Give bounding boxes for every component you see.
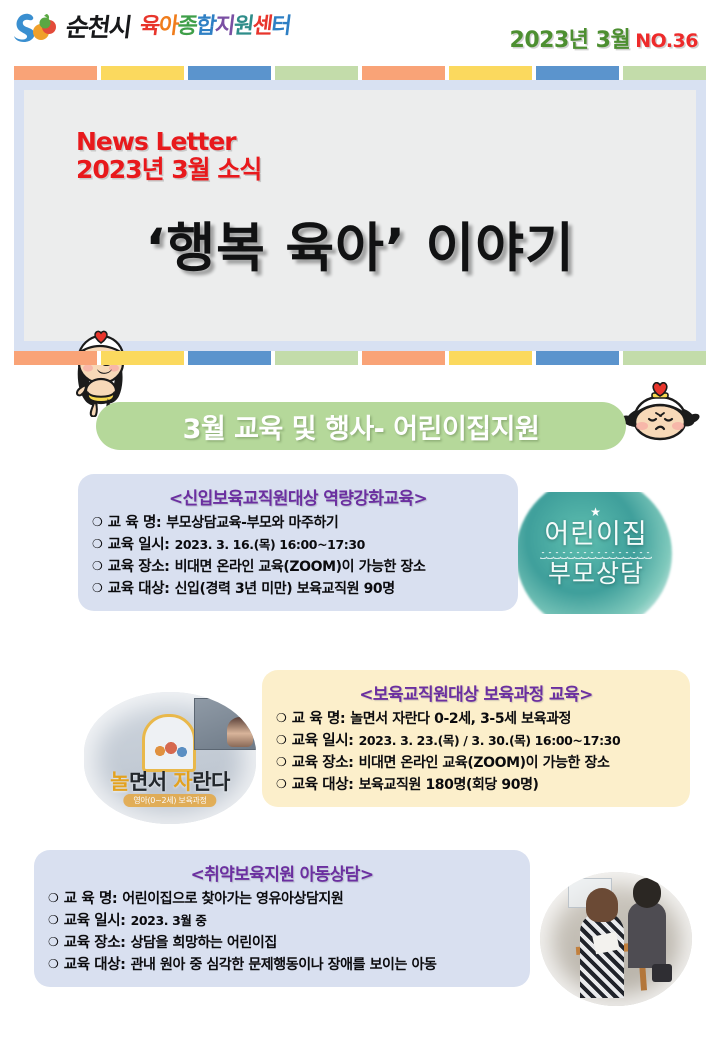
bullet-value: 비대면 온라인 교육(ZOOM)이 가능한 장소 xyxy=(359,755,610,772)
parent-counseling-badge: ★ 어린이집 부모상담 xyxy=(508,492,684,614)
bullet-label: 교육 장소: xyxy=(292,755,354,772)
card-bullet-row: ❍교육 장소:비대면 온라인 교육(ZOOM)이 가능한 장소 xyxy=(92,559,504,576)
issue-info: 2023년 3월NO.36 xyxy=(510,22,698,54)
page-header: 순천시 육아종합지원센터 2023년 3월NO.36 xyxy=(0,0,720,62)
bullet-marker-icon: ❍ xyxy=(48,936,59,948)
photo-oval-frame: 놀면서 자란다 영아(0~2세) 보육과정 xyxy=(84,692,256,824)
stripe-segment xyxy=(362,351,445,365)
bullet-label: 교육 대상: xyxy=(292,777,354,794)
bullet-value: 비대면 온라인 교육(ZOOM)이 가능한 장소 xyxy=(175,559,426,576)
counsel-oval-frame xyxy=(540,872,692,1006)
play-caption-part1: 놀 xyxy=(110,770,129,794)
stripe-segment xyxy=(14,66,97,80)
card-bullet-row: ❍교 육 명:놀면서 자란다 0-2세, 3-5세 보육과정 xyxy=(276,711,676,728)
bullet-label: 교 육 명: xyxy=(108,515,162,532)
bullet-marker-icon: ❍ xyxy=(276,778,287,790)
hero-kicker-line2: 2023년 3월 소식 xyxy=(76,156,261,184)
logo-char-1: 육 xyxy=(138,14,160,39)
card-bullet-row: ❍교육 대상:신입(경력 3년 미만) 보육교직원 90명 xyxy=(92,581,504,598)
card-title: <신입보육교직원대상 역량강화교육> xyxy=(92,484,504,509)
card-title: <취약보육지원 아동상담> xyxy=(48,860,516,885)
logo-city-label: 순천시 xyxy=(64,15,132,40)
stripe-segment xyxy=(101,351,184,365)
bag-object xyxy=(652,964,672,982)
bullet-value: 어린이집으로 찾아가는 영유아상담지원 xyxy=(122,891,343,908)
bullet-label: 교육 일시: xyxy=(64,913,126,930)
star-icon: ★ xyxy=(508,506,684,518)
card-bullet-row: ❍교 육 명:부모상담교육-부모와 마주하기 xyxy=(92,515,504,532)
play-caption-part3: 자 xyxy=(173,770,192,794)
hero-kicker-line1: News Letter xyxy=(76,128,261,156)
bullet-marker-icon: ❍ xyxy=(92,516,103,528)
stripe-segment xyxy=(188,351,271,365)
play-caption-part2: 면서 xyxy=(129,770,173,794)
stripe-segment xyxy=(14,351,97,365)
hero-banner: News Letter 2023년 3월 소식 ‘행복 육아’ 이야기 xyxy=(14,80,706,351)
bullet-label: 교육 대상: xyxy=(64,957,126,974)
logo-char-4: 합 xyxy=(194,14,216,39)
card-bullet-list: ❍교 육 명:놀면서 자란다 0-2세, 3-5세 보육과정❍교육 일시:202… xyxy=(276,711,676,794)
hero-kicker: News Letter 2023년 3월 소식 xyxy=(76,128,261,184)
page-title: ‘행복 육아’ 이야기 xyxy=(24,206,696,282)
bullet-label: 교육 대상: xyxy=(108,581,170,598)
stripe-segment xyxy=(449,66,532,80)
color-stripe-bottom xyxy=(14,351,706,365)
logo-char-8: 터 xyxy=(269,14,291,39)
info-card-new-teacher-training: <신입보육교직원대상 역량강화교육>❍교 육 명:부모상담교육-부모와 마주하기… xyxy=(78,474,518,611)
stripe-segment xyxy=(101,66,184,80)
person-counselor xyxy=(628,902,666,968)
stripe-segment xyxy=(623,66,706,80)
stripe-segment xyxy=(623,351,706,365)
card-title: <보육교직원대상 보육과정 교육> xyxy=(276,680,676,705)
bullet-value: 2023. 3월 중 xyxy=(131,914,207,929)
logo-char-5: 지 xyxy=(213,14,235,39)
stripe-segment xyxy=(449,351,532,365)
bullet-label: 교 육 명: xyxy=(292,711,346,728)
bullet-value: 2023. 3. 23.(목) / 3. 30.(목) 16:00~17:30 xyxy=(359,734,621,749)
bullet-label: 교 육 명: xyxy=(64,891,118,908)
info-card-curriculum-training: <보육교직원대상 보육과정 교육>❍교 육 명:놀면서 자란다 0-2세, 3-… xyxy=(262,670,690,807)
issue-date: 2023년 3월 xyxy=(510,28,631,53)
bullet-value: 신입(경력 3년 미만) 보육교직원 90명 xyxy=(175,581,395,598)
bullet-value: 2023. 3. 16.(목) 16:00~17:30 xyxy=(175,538,365,553)
color-stripe-top xyxy=(14,66,706,80)
stripe-segment xyxy=(275,66,358,80)
badge-divider xyxy=(540,552,652,559)
bullet-label: 교육 장소: xyxy=(64,935,126,952)
play-photo-caption: 놀면서 자란다 xyxy=(84,766,256,796)
card-bullet-list: ❍교 육 명:어린이집으로 찾아가는 영유아상담지원❍교육 일시:2023. 3… xyxy=(48,891,516,974)
logo-char-2: 아 xyxy=(157,14,179,39)
bullet-value: 보육교직원 180명(회당 90명) xyxy=(359,777,539,794)
bullet-marker-icon: ❍ xyxy=(276,756,287,768)
bullet-marker-icon: ❍ xyxy=(92,582,103,594)
card-bullet-row: ❍교육 대상:보육교직원 180명(회당 90명) xyxy=(276,777,676,794)
bullet-marker-icon: ❍ xyxy=(276,712,287,724)
bullet-marker-icon: ❍ xyxy=(48,892,59,904)
bullet-value: 부모상담교육-부모와 마주하기 xyxy=(166,515,338,532)
play-caption-part4: 란다 xyxy=(192,770,230,794)
badge-line1: 어린이집 xyxy=(508,519,684,550)
video-call-thumbnail xyxy=(194,698,256,750)
mascot-sleeping-baby-icon xyxy=(616,382,704,444)
section-title-banner: 3월 교육 및 행사- 어린이집지원 xyxy=(96,402,626,450)
card-bullet-row: ❍교육 장소:상담을 희망하는 어린이집 xyxy=(48,935,516,952)
logo-char-6: 원 xyxy=(232,14,254,39)
logo-center-label: 육아종합지원센터 xyxy=(138,16,291,38)
card-bullet-row: ❍교육 일시:2023. 3월 중 xyxy=(48,913,516,930)
bullet-label: 교육 일시: xyxy=(108,537,170,554)
suncheon-sc-logo-icon xyxy=(14,10,60,44)
house-illustration-icon xyxy=(142,714,196,772)
organization-logo: 순천시 육아종합지원센터 xyxy=(14,10,290,44)
bullet-value: 상담을 희망하는 어린이집 xyxy=(131,935,277,952)
info-card-child-counseling: <취약보육지원 아동상담>❍교 육 명:어린이집으로 찾아가는 영유아상담지원❍… xyxy=(34,850,530,987)
play-photo-subcaption: 영아(0~2세) 보육과정 xyxy=(123,794,216,807)
person-back-view xyxy=(580,912,624,998)
bullet-marker-icon: ❍ xyxy=(276,734,287,746)
bullet-marker-icon: ❍ xyxy=(48,914,59,926)
card-bullet-row: ❍교육 대상:관내 원아 중 심각한 문제행동이나 장애를 보이는 아동 xyxy=(48,957,516,974)
bullet-label: 교육 일시: xyxy=(292,733,354,750)
bullet-marker-icon: ❍ xyxy=(48,958,59,970)
section-title-label: 3월 교육 및 행사- 어린이집지원 xyxy=(183,407,540,446)
card-bullet-row: ❍교육 일시:2023. 3. 16.(목) 16:00~17:30 xyxy=(92,537,504,554)
badge-text-group: ★ 어린이집 부모상담 xyxy=(508,506,684,589)
stripe-segment xyxy=(536,351,619,365)
play-and-grow-class-photo: 놀면서 자란다 영아(0~2세) 보육과정 xyxy=(84,692,256,824)
badge-line2: 부모상담 xyxy=(508,560,684,589)
child-counseling-session-photo xyxy=(540,872,692,1006)
newsletter-page: 순천시 육아종합지원센터 2023년 3월NO.36 News Letter 2… xyxy=(0,0,720,1040)
card-bullet-row: ❍교육 장소:비대면 온라인 교육(ZOOM)이 가능한 장소 xyxy=(276,755,676,772)
card-bullet-row: ❍교 육 명:어린이집으로 찾아가는 영유아상담지원 xyxy=(48,891,516,908)
stripe-segment xyxy=(536,66,619,80)
stripe-segment xyxy=(188,66,271,80)
bullet-value: 놀면서 자란다 0-2세, 3-5세 보육과정 xyxy=(350,711,571,728)
hero-inner-panel: News Letter 2023년 3월 소식 ‘행복 육아’ 이야기 xyxy=(24,90,696,341)
issue-number: NO.36 xyxy=(635,30,698,52)
bullet-label: 교육 장소: xyxy=(108,559,170,576)
card-bullet-row: ❍교육 일시:2023. 3. 23.(목) / 3. 30.(목) 16:00… xyxy=(276,733,676,750)
stripe-segment xyxy=(275,351,358,365)
bullet-value: 관내 원아 중 심각한 문제행동이나 장애를 보이는 아동 xyxy=(131,957,437,974)
bullet-marker-icon: ❍ xyxy=(92,560,103,572)
stripe-segment xyxy=(362,66,445,80)
bullet-marker-icon: ❍ xyxy=(92,538,103,550)
card-bullet-list: ❍교 육 명:부모상담교육-부모와 마주하기❍교육 일시:2023. 3. 16… xyxy=(92,515,504,598)
